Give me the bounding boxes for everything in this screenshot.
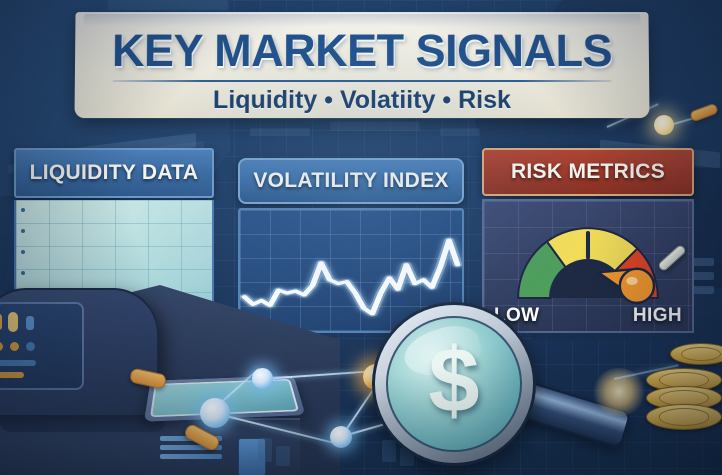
coin-face bbox=[659, 408, 709, 425]
panel-volatility-title: VOLATILITY INDEX bbox=[253, 169, 448, 193]
panel-risk-title: RISK METRICS bbox=[511, 160, 665, 184]
wall-screen-tile bbox=[692, 258, 714, 266]
coin bbox=[646, 404, 722, 430]
screen-widget bbox=[26, 342, 35, 351]
wall-strip bbox=[440, 128, 480, 136]
screen-widget bbox=[10, 342, 19, 351]
panel-risk-header: RISK METRICS bbox=[482, 148, 694, 196]
network-node-hub bbox=[200, 398, 230, 428]
screen-widget bbox=[0, 372, 24, 378]
floor-tile bbox=[258, 438, 272, 462]
panel-volatility-header: VOLATILITY INDEX bbox=[238, 158, 464, 204]
floor-tile bbox=[382, 440, 396, 462]
page-subtitle: Liquidity • Volatiity • Risk bbox=[74, 86, 649, 115]
title-divider bbox=[113, 80, 611, 82]
screen-widget bbox=[26, 316, 34, 330]
wall-screen-tile bbox=[692, 272, 714, 280]
panel-liquidity-title: LIQUIDITY DATA bbox=[30, 161, 199, 185]
needle-highlight bbox=[626, 277, 637, 285]
panel-risk-metrics[interactable]: RISK METRICS LOW HIGH bbox=[482, 148, 694, 333]
panel-risk-body: LOW HIGH bbox=[482, 199, 694, 333]
magnifier-icon[interactable]: $ bbox=[372, 302, 536, 466]
light-glow bbox=[592, 368, 646, 416]
panel-liquidity-header: LIQUIDITY DATA bbox=[14, 148, 214, 198]
needle-bulb bbox=[620, 269, 654, 303]
infographic-canvas: KEY MARKET SIGNALS Liquidity • Volatiity… bbox=[0, 0, 722, 475]
monitor-screen bbox=[0, 302, 84, 390]
wall-strip bbox=[330, 122, 420, 131]
coin-face bbox=[681, 347, 722, 361]
wall-strip bbox=[108, 0, 228, 10]
magnifier-lens: $ bbox=[386, 316, 522, 452]
wall-strip bbox=[250, 128, 310, 136]
floor-tile bbox=[276, 446, 290, 466]
page-title: KEY MARKET SIGNALS bbox=[75, 25, 649, 77]
screen-widget bbox=[0, 342, 3, 351]
risk-gauge bbox=[490, 207, 686, 311]
gauge-label-high: HIGH bbox=[633, 305, 682, 327]
screen-widget bbox=[0, 314, 2, 330]
screen-widget bbox=[0, 360, 36, 366]
wall-screen-tile bbox=[692, 286, 714, 294]
network-node bbox=[654, 115, 674, 135]
network-node bbox=[252, 368, 273, 389]
monitor-icon bbox=[0, 288, 159, 417]
title-banner: KEY MARKET SIGNALS Liquidity • Volatiity… bbox=[74, 12, 649, 118]
network-node bbox=[330, 426, 352, 448]
screen-widget bbox=[8, 312, 18, 332]
dollar-sign-icon: $ bbox=[388, 334, 520, 426]
